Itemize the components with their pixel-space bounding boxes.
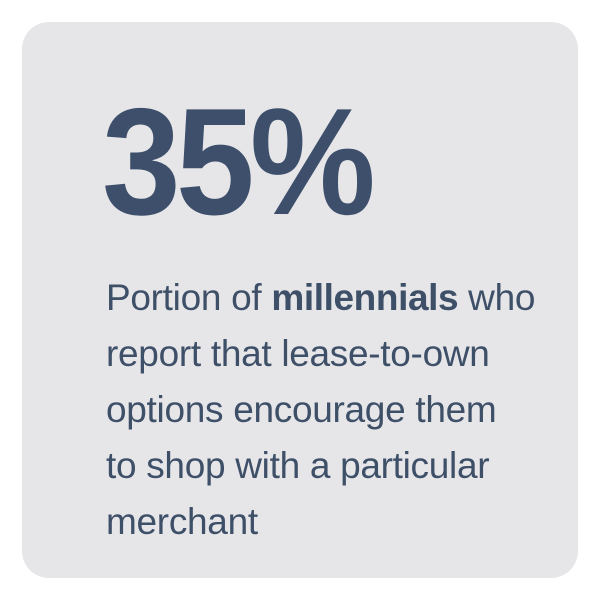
description-line-1: Portion of millennials who <box>106 270 576 326</box>
stat-highlight-card: 35% Portion of millennials who report th… <box>22 22 578 578</box>
description-line-1-suffix: who <box>458 277 535 318</box>
screenshot-canvas: 35% Portion of millennials who report th… <box>0 0 600 600</box>
stat-description: Portion of millennials who report that l… <box>106 270 576 550</box>
description-emphasis-millennials: millennials <box>271 277 458 318</box>
description-line-5: merchant <box>106 494 576 550</box>
description-line-4: to shop with a particular <box>106 438 576 494</box>
description-line-2: report that lease-to-own <box>106 326 576 382</box>
description-line-1-prefix: Portion of <box>106 277 271 318</box>
description-line-3: options encourage them <box>106 382 576 438</box>
stat-figure-value: 35% <box>102 86 371 238</box>
